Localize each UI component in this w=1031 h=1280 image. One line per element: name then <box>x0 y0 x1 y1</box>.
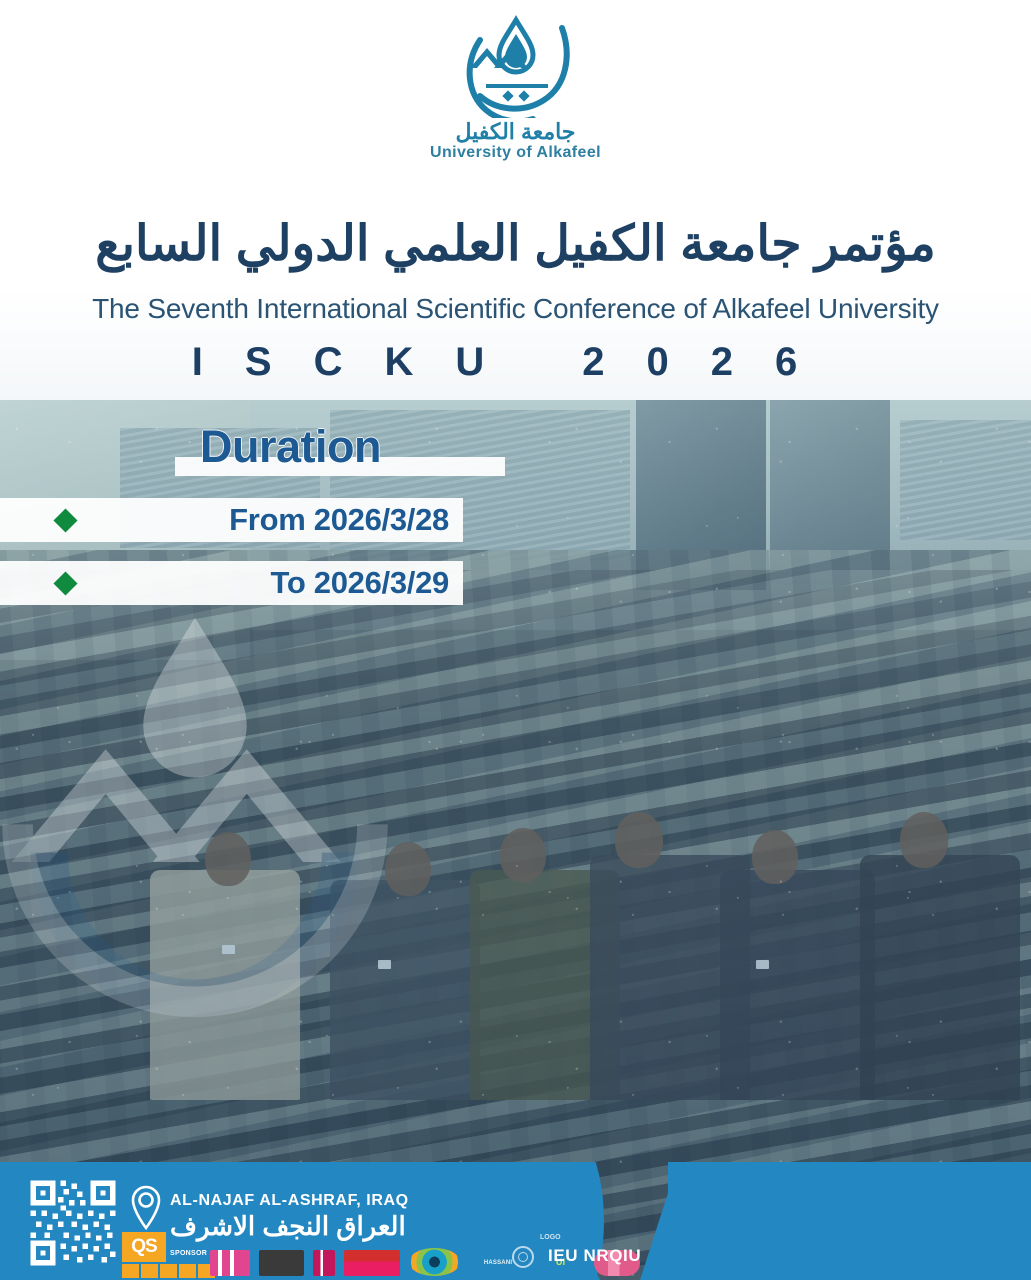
qs-logo[interactable]: QS <box>122 1232 166 1262</box>
alkafeel-droplet-crescent-logo <box>450 14 582 118</box>
sponsor-logo-red-block[interactable] <box>344 1250 400 1276</box>
qs-star-rating <box>122 1264 215 1278</box>
poster-header: جامعة الكفيل University of Alkafeel مؤتم… <box>0 0 1031 400</box>
university-logo-block: جامعة الكفيل University of Alkafeel <box>0 14 1031 162</box>
qs-star <box>160 1264 177 1278</box>
sponsor-logo-magenta[interactable] <box>313 1250 335 1276</box>
sponsor-logo-eye-gradient[interactable] <box>409 1248 461 1276</box>
duration-heading-text: Duration <box>200 421 381 473</box>
acronym-letters: ISCKU <box>192 340 526 384</box>
duration-block: Duration From 2026/3/28 To 2026/3/29 <box>0 421 600 605</box>
sponsor-logo-pink-bars[interactable] <box>210 1250 250 1276</box>
duration-to-text: To 2026/3/29 <box>271 565 450 601</box>
green-diamond-bullet-icon <box>53 571 77 595</box>
duration-heading: Duration <box>0 421 600 481</box>
qs-star <box>122 1264 139 1278</box>
qs-sponsor-tag: SPONSOR <box>170 1250 207 1257</box>
map-pin-icon <box>128 1184 164 1232</box>
qr-code-icon[interactable] <box>24 1178 122 1268</box>
sponsor-logo-dark-grid[interactable] <box>259 1250 305 1276</box>
conference-title-arabic: مؤتمر جامعة الكفيل العلمي الدولي السابع <box>0 216 1031 274</box>
duration-row-to: To 2026/3/29 <box>0 561 463 605</box>
duration-from-text: From 2026/3/28 <box>229 502 449 538</box>
year-digits: 2026 <box>582 340 839 384</box>
conference-title-english: The Seventh International Scientific Con… <box>0 293 1031 325</box>
institution-seal-icon <box>512 1246 534 1268</box>
green-diamond-bullet-icon <box>53 508 77 532</box>
qs-star <box>179 1264 196 1278</box>
ieu-nrqiu-text[interactable]: IEU NRQIU <box>548 1246 641 1266</box>
location-english: AL-NAJAF AL-ASHRAF, IRAQ <box>170 1192 409 1210</box>
qs-star <box>141 1264 158 1278</box>
university-name-english: University of Alkafeel <box>0 144 1031 162</box>
conference-poster: جامعة الكفيل University of Alkafeel مؤتم… <box>0 0 1031 1280</box>
ieu-logo-tag: LOGO <box>540 1234 561 1241</box>
footer-right-panel <box>668 1162 1031 1280</box>
conference-acronym-year: ISCKU2026 <box>0 340 1031 385</box>
duration-row-from: From 2026/3/28 <box>0 498 463 542</box>
university-name-arabic: جامعة الكفيل <box>0 120 1031 143</box>
